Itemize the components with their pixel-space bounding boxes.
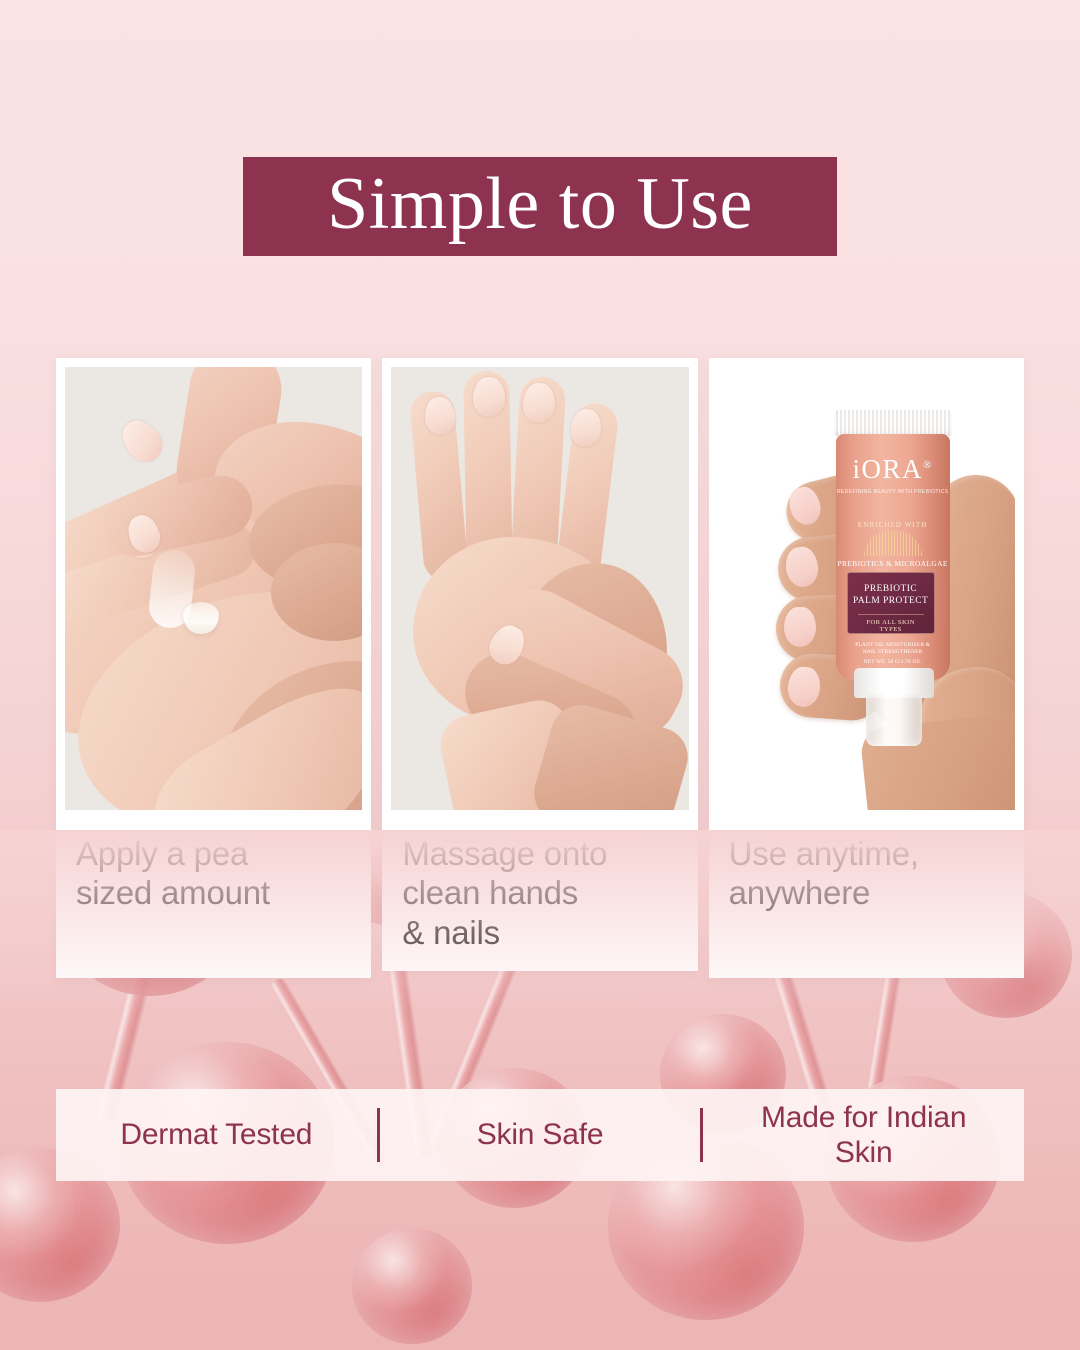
step-card-3[interactable]: iORA® REDEFINING BEAUTY WITH PREBIOTICS … [709,358,1024,978]
step-1-caption-line-2: sized amount [76,874,270,911]
product-skin-types: FOR ALL SKIN TYPES [858,614,924,633]
infographic-stage: Simple to Use [0,0,1080,1350]
registered-mark-icon: ® [923,459,933,471]
hands-massaging-illustration [391,367,688,810]
tube-nozzle [866,694,922,746]
product-tagline: REDEFINING BEAUTY WITH PREBIOTICS [834,490,952,495]
product-tube: iORA® REDEFINING BEAUTY WITH PREBIOTICS … [834,410,952,710]
claim-dermat-tested: Dermat Tested [56,1117,377,1152]
step-1-caption-line-1: Apply a pea [76,835,248,872]
claim-3-line-1: Made for Indian [761,1101,966,1134]
page-title: Simple to Use [327,167,753,241]
page-title-banner: Simple to Use [243,157,837,256]
step-card-1[interactable]: Apply a pea sized amount [56,358,371,978]
step-3-caption-line-2: anywhere [729,874,871,911]
step-card-2[interactable]: Massage onto clean hands & nails [382,358,697,971]
step-2-caption-line-1: Massage onto [402,835,607,872]
step-2-caption-line-2: clean hands [402,874,578,911]
product-brand: iORA® [834,456,952,483]
hand-holding-tube-illustration: iORA® REDEFINING BEAUTY WITH PREBIOTICS … [718,367,1015,810]
product-benefit: PLANT OIL MOISTURISER & NAIL STRENGTHENE… [834,642,952,657]
product-enriched-label: ENRICHED WITH [834,522,952,529]
steps-row: Apply a pea sized amount [56,358,1024,978]
product-net-weight: NET WT. 50 G/1.76 OZ. [834,660,952,665]
claim-made-for-indian-skin: Made for Indian Skin [703,1100,1024,1171]
product-name-label: PREBIOTIC PALM PROTECT FOR ALL SKIN TYPE… [847,572,935,634]
claim-3-line-2: Skin [835,1136,893,1169]
step-2-caption-line-3: & nails [402,914,500,951]
hands-applying-cream-illustration [65,367,362,810]
product-actives: PREBIOTICS & MICROALGAE [834,560,952,567]
step-1-photo [65,367,362,810]
step-2-photo [391,367,688,810]
claims-bar: Dermat Tested Skin Safe Made for Indian … [56,1089,1024,1181]
step-3-caption-line-1: Use anytime, [729,835,919,872]
step-2-caption: Massage onto clean hands & nails [391,810,688,971]
step-1-caption: Apply a pea sized amount [65,810,362,978]
claim-skin-safe: Skin Safe [380,1117,701,1152]
step-3-photo: iORA® REDEFINING BEAUTY WITH PREBIOTICS … [718,367,1015,810]
step-3-caption: Use anytime, anywhere [718,810,1015,978]
product-name: PREBIOTIC PALM PROTECT [848,584,934,608]
tube-crimp [834,410,952,436]
